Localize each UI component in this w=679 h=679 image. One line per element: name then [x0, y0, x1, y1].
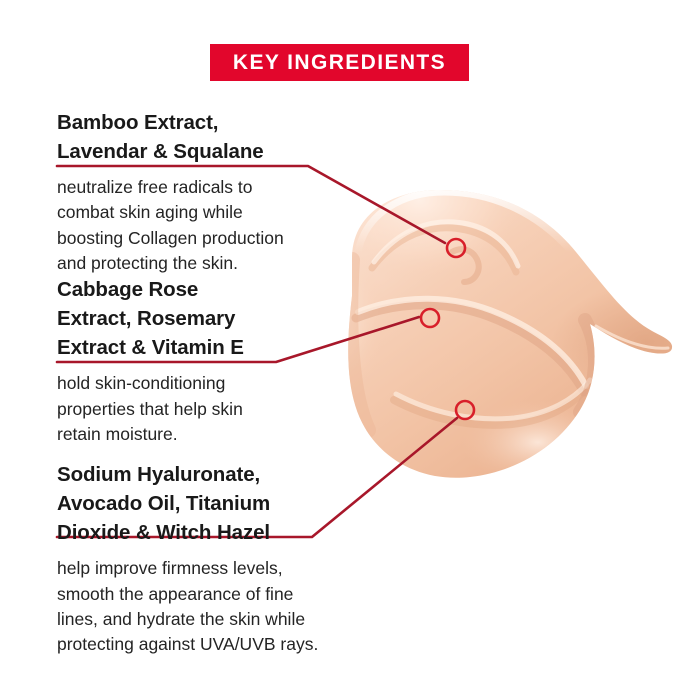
ingredient-description: hold skin-conditioning properties that h… [57, 362, 357, 447]
ingredient-block-cabbage-rose-extract: Cabbage Rose Extract, Rosemary Extract &… [57, 275, 357, 447]
callout-circle-1[interactable] [447, 239, 465, 257]
banner-title: KEY INGREDIENTS [233, 52, 446, 73]
ingredient-heading: Sodium Hyaluronate, Avocado Oil, Titaniu… [57, 460, 357, 547]
key-ingredients-banner: KEY INGREDIENTS [210, 44, 469, 81]
ingredient-description: neutralize free radicals to combat skin … [57, 166, 357, 276]
infographic-canvas: KEY INGREDIENTS Bamboo Extract, Lavendar… [0, 0, 679, 679]
ingredient-block-sodium-hyaluronate: Sodium Hyaluronate, Avocado Oil, Titaniu… [57, 460, 357, 657]
callout-circle-2[interactable] [421, 309, 439, 327]
ingredient-heading: Bamboo Extract, Lavendar & Squalane [57, 108, 357, 166]
ingredient-description: help improve firmness levels, smooth the… [57, 547, 357, 657]
callout-circle-3[interactable] [456, 401, 474, 419]
ingredient-heading: Cabbage Rose Extract, Rosemary Extract &… [57, 275, 357, 362]
ingredient-block-bamboo-extract: Bamboo Extract, Lavendar & Squalane neut… [57, 108, 357, 276]
